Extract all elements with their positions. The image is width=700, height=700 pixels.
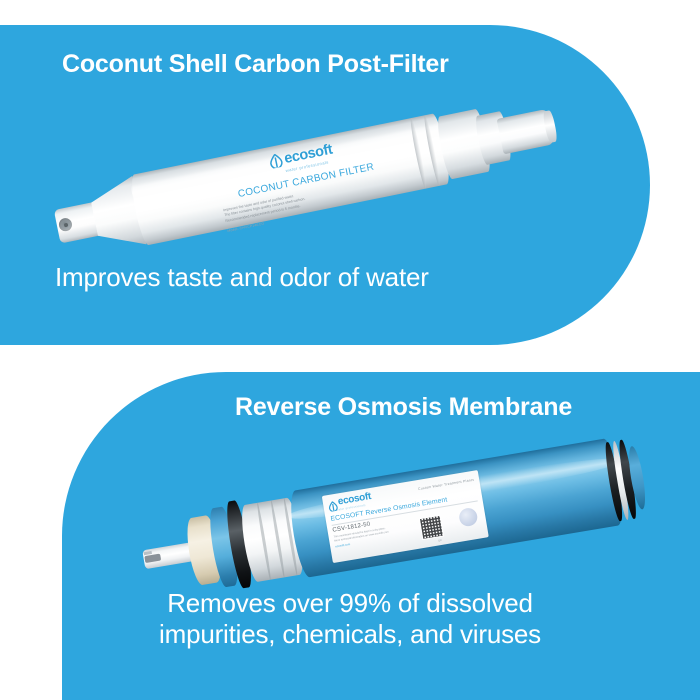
panel-caption-coconut-carbon-post-filter: Improves taste and odor of water	[55, 262, 429, 293]
ro-caption-line-1: Removes over 99% of dissolved	[30, 588, 670, 619]
infographic-canvas: Coconut Shell Carbon Post-Filter	[0, 0, 700, 700]
ro-label-qr-code	[419, 515, 444, 540]
panel-caption-reverse-osmosis-membrane: Removes over 99% of dissolved impurities…	[0, 588, 700, 649]
carbon-filter-port-bore	[63, 222, 68, 227]
ro-label-qr-caption: QR	[438, 539, 442, 543]
ecosoft-droplet-logo-icon	[327, 498, 338, 509]
ro-permeate-tube-slot	[144, 554, 161, 564]
ecosoft-droplet-logo-icon	[268, 153, 284, 169]
panel-title-coconut-carbon-post-filter: Coconut Shell Carbon Post-Filter	[62, 50, 449, 79]
carbon-filter-inlet-port-icon	[58, 217, 73, 232]
ro-caption-line-2: impurities, chemicals, and viruses	[30, 619, 670, 650]
panel-title-reverse-osmosis-membrane: Reverse Osmosis Membrane	[235, 393, 572, 422]
